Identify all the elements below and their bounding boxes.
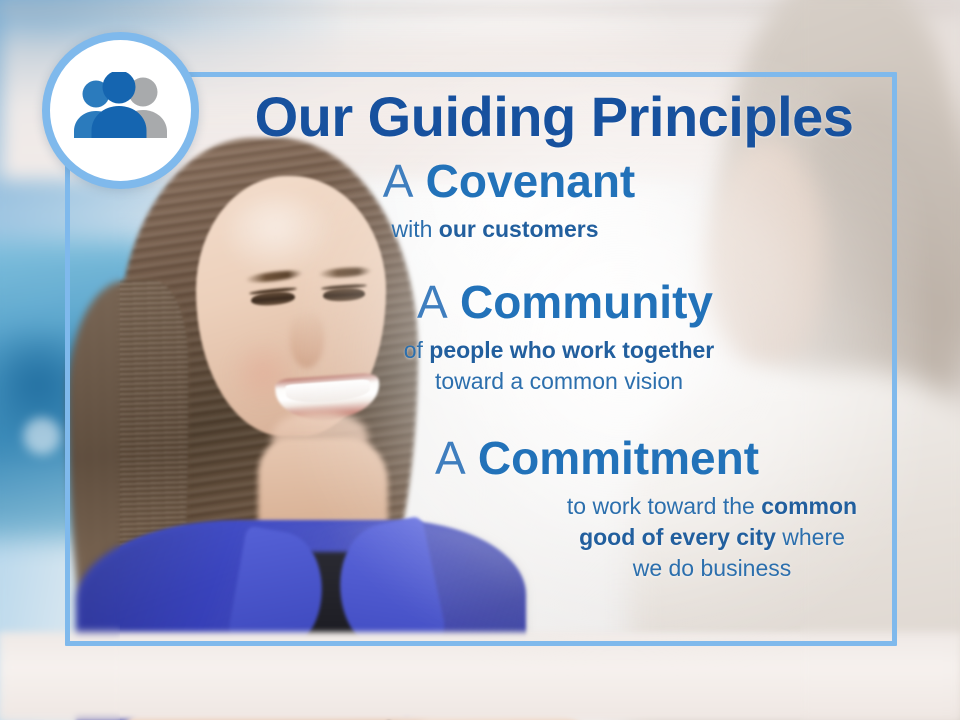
principle-covenant-article: A (383, 155, 426, 207)
principle-commitment-subtext: to work toward the common good of every … (502, 491, 922, 584)
principle-community-article: A (417, 276, 460, 328)
principle-covenant-keyword: Covenant (426, 155, 636, 207)
principle-covenant: A Covenant with our customers (164, 154, 854, 245)
principle-commitment-subline-0: to work toward the common (502, 491, 922, 522)
principle-community-subline-1: toward a common vision (214, 366, 904, 397)
principle-community-heading: A Community (220, 275, 910, 329)
principle-community-subtext: of people who work together toward a com… (214, 335, 904, 397)
page-title: Our Guiding Principles (218, 86, 890, 148)
principle-commitment-article: A (435, 432, 478, 484)
principle-commitment-subline-1: good of every city where (502, 522, 922, 553)
principle-commitment: A Commitment to work toward the common g… (252, 431, 942, 584)
principle-covenant-subtext: with our customers (150, 214, 840, 245)
principle-commitment-subline-2: we do business (502, 553, 922, 584)
principle-community-keyword: Community (460, 276, 713, 328)
principle-commitment-heading: A Commitment (252, 431, 942, 485)
principle-covenant-subline-0: with our customers (150, 214, 840, 245)
principle-commitment-keyword: Commitment (478, 432, 759, 484)
principle-covenant-heading: A Covenant (164, 154, 854, 208)
principles-content: Our Guiding Principles A Covenant with o… (200, 86, 890, 584)
guiding-principles-banner: FLOW FLOW (0, 0, 960, 720)
principle-community: A Community of people who work together … (220, 275, 910, 397)
principle-community-subline-0: of people who work together (214, 335, 904, 366)
